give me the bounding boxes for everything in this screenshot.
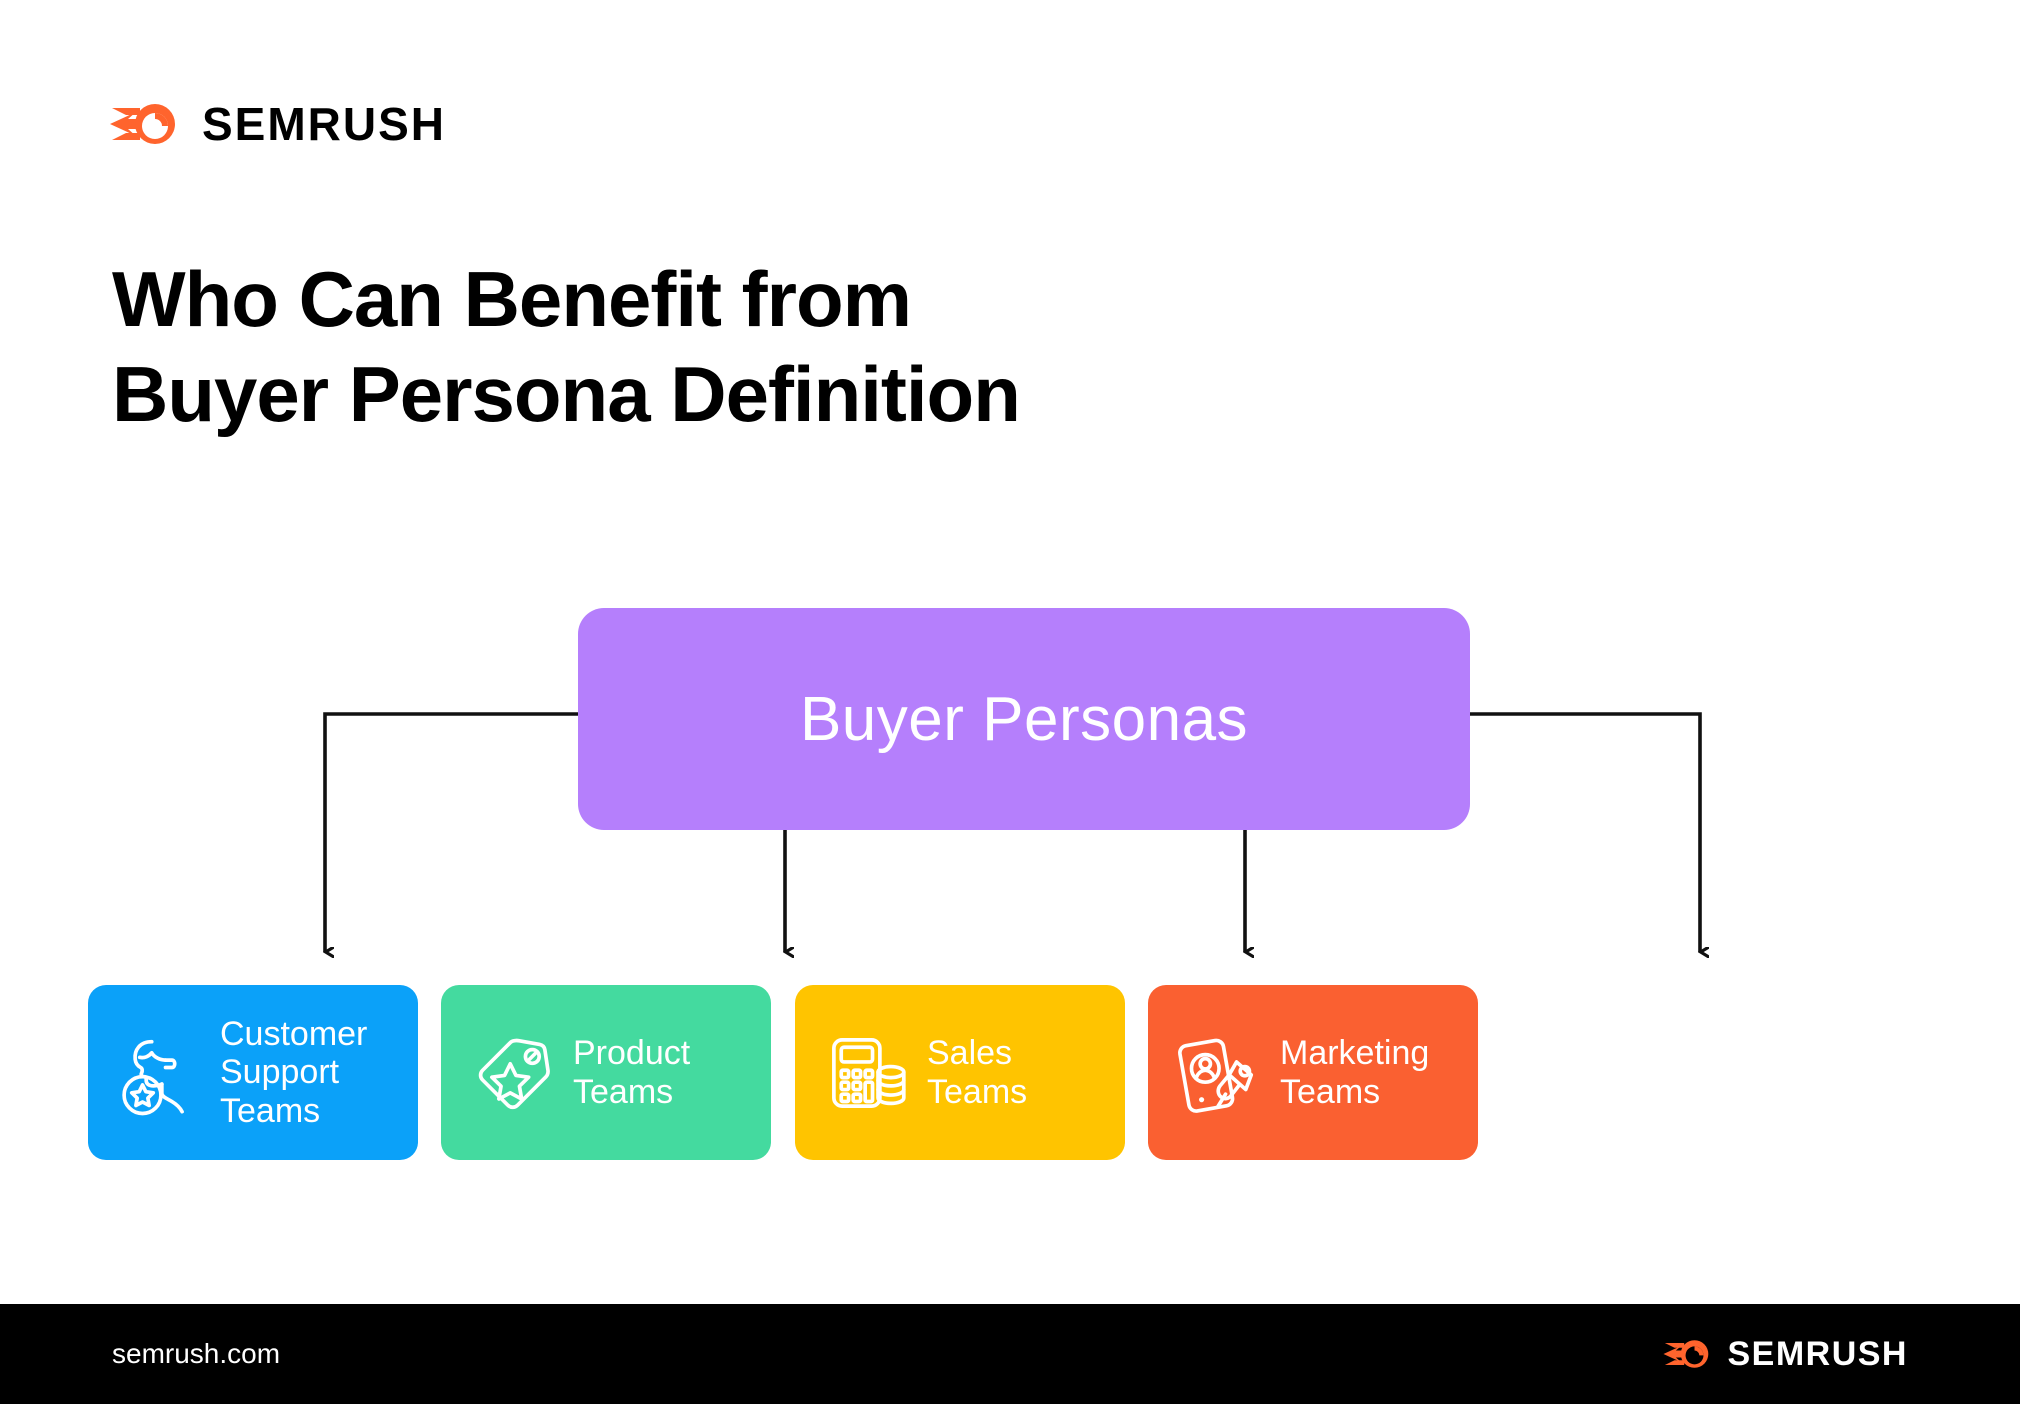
child-node-customer-support-teams[interactable]: Customer Support Teams — [88, 985, 418, 1160]
support-agent-star-icon — [114, 1027, 206, 1119]
footer-url[interactable]: semrush.com — [112, 1338, 280, 1370]
root-node-buyer-personas[interactable]: Buyer Personas — [578, 608, 1470, 830]
child-node-marketing-teams[interactable]: Marketing Teams — [1148, 985, 1478, 1160]
footer-brand: SEMRUSH — [1663, 1334, 1908, 1374]
child-node-label: Customer Support Teams — [220, 1015, 367, 1129]
child-node-label: Product Teams — [573, 1034, 690, 1110]
infographic-canvas: SEMRUSH Who Can Benefit from Buyer Perso… — [0, 0, 2020, 1404]
root-node-label: Buyer Personas — [800, 684, 1248, 755]
footer-wordmark: SEMRUSH — [1727, 1337, 1908, 1371]
calculator-coins-icon — [821, 1027, 913, 1119]
child-node-row: Customer Support Teams Product Teams — [0, 985, 2020, 1160]
footer-bar: semrush.com SEMRUSH — [0, 1304, 2020, 1404]
connector-right — [1470, 714, 1700, 952]
price-tag-star-icon — [467, 1027, 559, 1119]
brand-wordmark: SEMRUSH — [202, 101, 446, 147]
semrush-comet-logo-icon — [110, 95, 184, 153]
child-node-label: Marketing Teams — [1280, 1034, 1429, 1110]
connector-left — [325, 714, 578, 952]
child-node-label: Sales Teams — [927, 1034, 1027, 1110]
semrush-comet-logo-icon — [1663, 1334, 1715, 1374]
brand-header: SEMRUSH — [110, 95, 446, 153]
child-node-sales-teams[interactable]: Sales Teams — [795, 985, 1125, 1160]
phone-megaphone-icon — [1174, 1027, 1266, 1119]
child-node-product-teams[interactable]: Product Teams — [441, 985, 771, 1160]
page-title: Who Can Benefit from Buyer Persona Defin… — [112, 252, 1020, 442]
